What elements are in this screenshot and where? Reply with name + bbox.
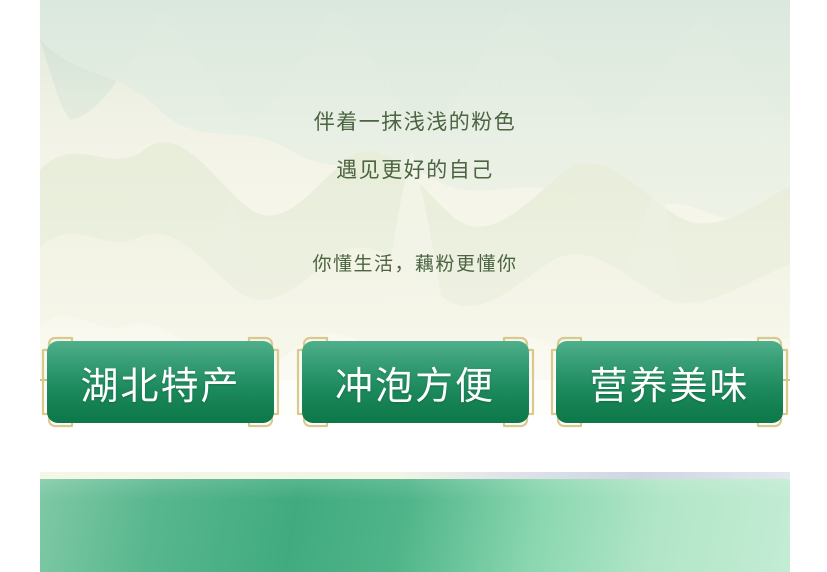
hero-tagline-line-2: 遇见更好的自己 xyxy=(40,160,790,181)
hero-tagline-line-1: 伴着一抹浅浅的粉色 xyxy=(40,112,790,133)
hero-tagline-line-3: 你懂生活，藕粉更懂你 xyxy=(40,255,790,274)
feature-badge-label: 营养美味 xyxy=(549,336,790,428)
feature-badge-label: 冲泡方便 xyxy=(295,336,536,428)
feature-badge-local-specialty[interactable]: 湖北特产 xyxy=(40,336,281,428)
feature-badge-easy-brew[interactable]: 冲泡方便 xyxy=(295,336,536,428)
feature-badge-nutritious[interactable]: 营养美味 xyxy=(549,336,790,428)
feature-badge-label: 湖北特产 xyxy=(40,336,281,428)
next-section-banner xyxy=(40,479,790,572)
section-divider xyxy=(40,472,790,479)
background-watermark: · · · · · · · · · · · · · · · · xyxy=(40,80,790,90)
feature-badge-row: 湖北特产 冲泡方便 营养美味 xyxy=(40,336,790,428)
product-detail-page: · · · · · · · · · · · · · · · · 伴着一抹浅浅的粉… xyxy=(0,0,827,572)
